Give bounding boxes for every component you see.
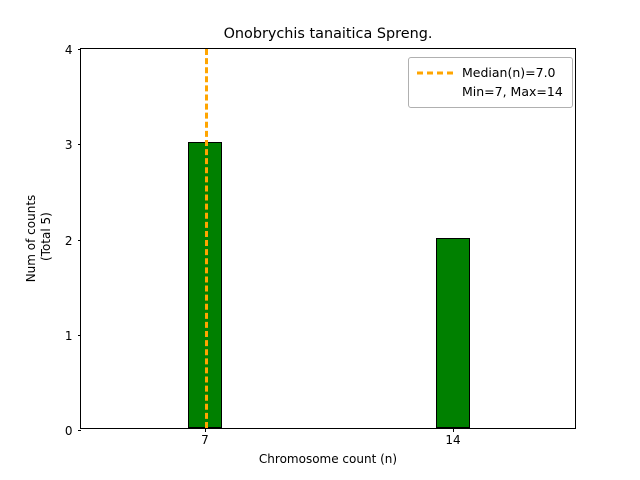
legend-entry-median: Median(n)=7.0 <box>417 63 563 82</box>
y-tick: 3 <box>78 144 82 145</box>
legend-entry-minmax: Min=7, Max=14 <box>417 82 563 101</box>
y-tick: 0 <box>78 430 82 431</box>
x-tick-label: 14 <box>445 433 460 447</box>
dashed-line-icon <box>417 67 453 79</box>
x-tick <box>453 428 454 432</box>
y-axis-label-line2: (Total 5) <box>39 212 54 265</box>
median-reference-line <box>205 49 208 428</box>
chart-legend: Median(n)=7.0 Min=7, Max=14 <box>408 57 573 108</box>
x-axis-label: Chromosome count (n) <box>80 452 576 466</box>
x-tick <box>205 428 206 432</box>
y-tick: 2 <box>78 240 82 241</box>
y-tick: 1 <box>78 335 82 336</box>
y-tick-label: 4 <box>65 44 73 56</box>
y-axis-label-line1: Num of counts <box>24 195 39 283</box>
y-tick-label: 3 <box>65 139 73 151</box>
legend-label-median: Median(n)=7.0 <box>462 65 556 80</box>
y-tick-label: 2 <box>65 235 73 247</box>
y-axis-label: Num of counts (Total 5) <box>22 48 56 429</box>
y-tick-label: 0 <box>65 425 73 437</box>
bar-chromosome-14 <box>436 238 470 429</box>
legend-label-minmax: Min=7, Max=14 <box>417 84 563 99</box>
page-title: Onobrychis tanaitica Spreng. <box>80 26 576 42</box>
x-tick-label: 7 <box>201 433 209 447</box>
matplotlib-figure: Onobrychis tanaitica Spreng. 01234 714 C… <box>0 0 640 480</box>
y-tick: 4 <box>78 49 82 50</box>
y-tick-label: 1 <box>65 330 73 342</box>
